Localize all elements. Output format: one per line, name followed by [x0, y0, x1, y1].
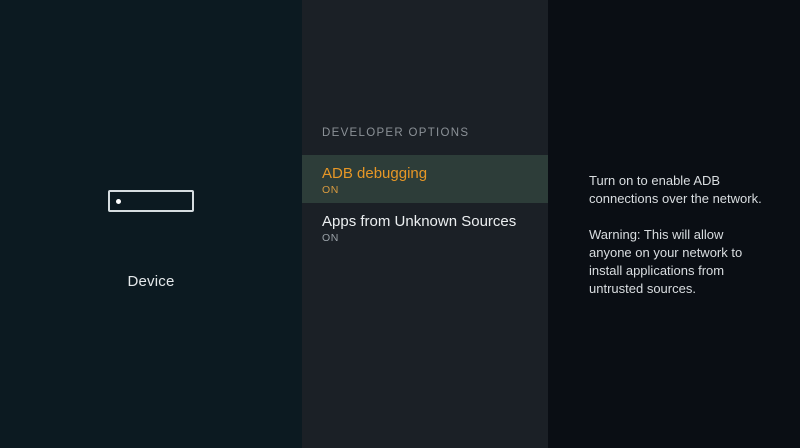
- list-item-status: ON: [322, 232, 339, 244]
- settings-list: ADB debugging ON Apps from Unknown Sourc…: [302, 155, 548, 251]
- list-item-status: ON: [322, 184, 339, 196]
- device-bar-icon: [108, 190, 194, 212]
- description-paragraph-warning: Warning: This will allow anyone on your …: [589, 226, 769, 298]
- device-tile-label: Device: [0, 273, 302, 291]
- description-paragraph-primary: Turn on to enable ADB connections over t…: [589, 172, 769, 208]
- left-panel: Device: [0, 0, 302, 448]
- section-header-developer-options: DEVELOPER OPTIONS: [322, 126, 469, 140]
- device-indicator-dot: [116, 199, 121, 204]
- description-text: Turn on to enable ADB connections over t…: [589, 172, 769, 298]
- list-item-title: ADB debugging: [322, 165, 427, 183]
- list-item-adb-debugging[interactable]: ADB debugging ON: [302, 155, 548, 203]
- list-item-apps-from-unknown-sources[interactable]: Apps from Unknown Sources ON: [302, 203, 548, 251]
- right-panel: Turn on to enable ADB connections over t…: [548, 0, 800, 448]
- middle-panel: DEVELOPER OPTIONS ADB debugging ON Apps …: [302, 0, 548, 448]
- settings-screen: Device DEVELOPER OPTIONS ADB debugging O…: [0, 0, 800, 448]
- list-item-title: Apps from Unknown Sources: [322, 213, 516, 231]
- device-tile[interactable]: Device: [0, 190, 302, 291]
